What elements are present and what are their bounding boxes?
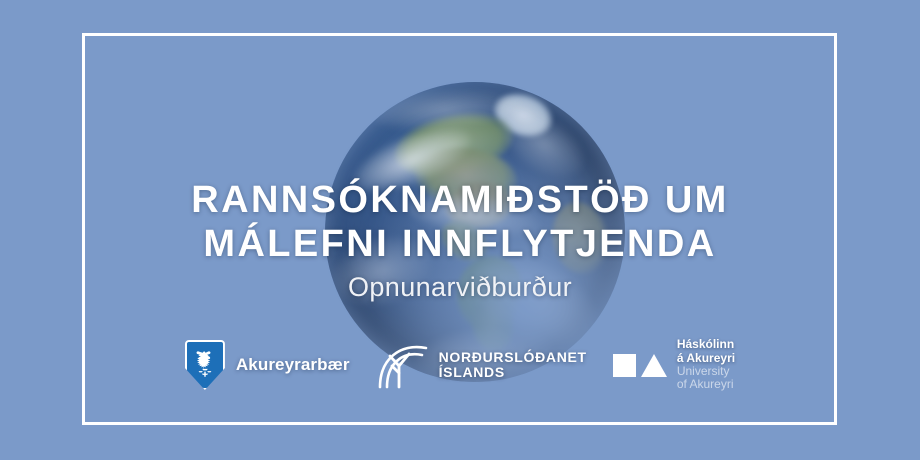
nordurslodanet-line-1: NORÐURSLÓÐANET xyxy=(439,350,587,365)
subtitle: Opnunarviðburður xyxy=(0,271,920,303)
ua-triangle-shape xyxy=(641,354,667,377)
ua-is-line-2: á Akureyri xyxy=(677,352,735,365)
title-line-2: MÁLEFNI INNFLYTJENDA xyxy=(0,222,920,266)
nordurslodanet-label: NORÐURSLÓÐANET ÍSLANDS xyxy=(439,350,587,380)
ua-en-line-1: University xyxy=(677,365,735,378)
nordurslodanet-line-2: ÍSLANDS xyxy=(439,365,587,380)
square-triangle-icon xyxy=(613,354,667,377)
ua-en-line-2: of Akureyri xyxy=(677,378,735,391)
ua-is-line-1: Háskólinn xyxy=(677,338,735,351)
logo-akureyrarbaer: Akureyrarbær xyxy=(185,340,350,390)
logo-row: Akureyrarbær NORÐURSLÓÐANET ÍSLANDS xyxy=(0,336,920,394)
title-block: RANNSÓKNAMIÐSTÖÐ UM MÁLEFNI INNFLYTJENDA… xyxy=(0,178,920,303)
title-line-1: RANNSÓKNAMIÐSTÖÐ UM xyxy=(0,178,920,222)
akureyrarbaer-label: Akureyrarbær xyxy=(236,355,350,375)
poster-canvas: RANNSÓKNAMIÐSTÖÐ UM MÁLEFNI INNFLYTJENDA… xyxy=(0,0,920,460)
university-of-akureyri-label: Háskólinn á Akureyri University of Akure… xyxy=(677,338,735,392)
arctic-arch-tree-icon xyxy=(378,339,432,391)
logo-university-of-akureyri: Háskólinn á Akureyri University of Akure… xyxy=(613,338,735,392)
logo-nordurslodanet: NORÐURSLÓÐANET ÍSLANDS xyxy=(378,339,587,391)
shield-eagle-icon xyxy=(185,340,225,390)
ua-square-shape xyxy=(613,354,636,377)
